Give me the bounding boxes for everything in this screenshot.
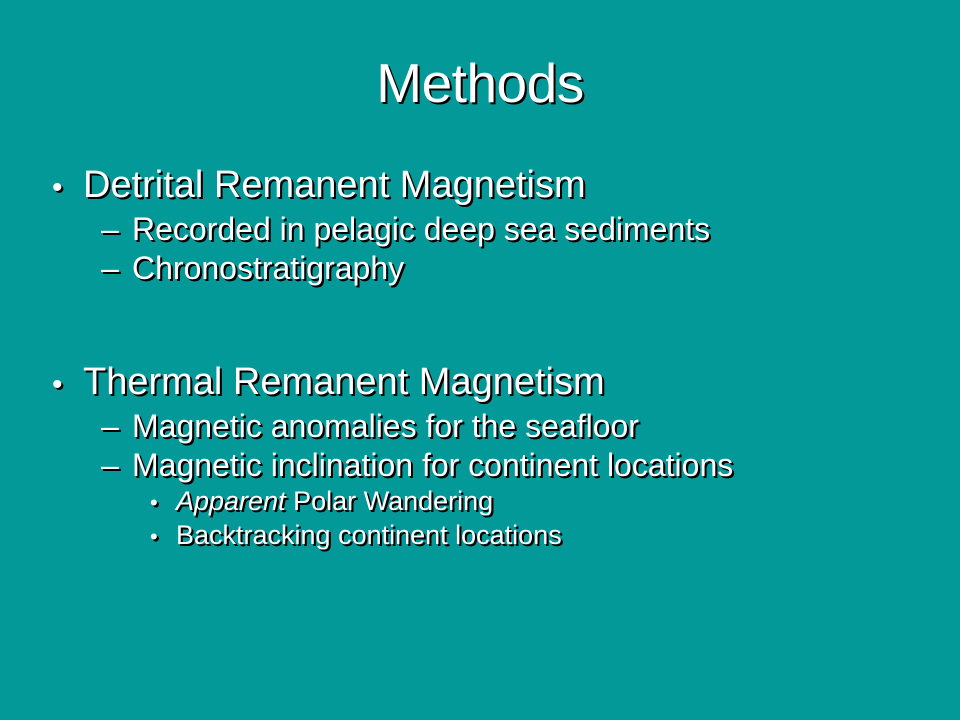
list-group-spacer: [0, 288, 960, 360]
list-bullet-marker: –: [101, 407, 132, 446]
page-title: Methods: [0, 52, 960, 114]
list-item-label-emphasis: Apparent: [176, 486, 286, 516]
list-bullet-marker: •: [52, 165, 83, 210]
list-item: •Backtracking continent locations: [0, 519, 960, 553]
list-bullet-marker: •: [52, 362, 83, 407]
list-bullet-marker: –: [101, 249, 132, 288]
list-bullet-marker: –: [101, 446, 132, 485]
list-bullet-marker: •: [150, 486, 176, 519]
list-item: –Magnetic anomalies for the seafloor: [0, 407, 960, 446]
list-bullet-marker: –: [101, 210, 132, 249]
presentation-slide: Methods •Detrital Remanent Magnetism–Rec…: [0, 0, 960, 720]
list-item-label-rest: Polar Wandering: [286, 486, 494, 516]
list-item: •Detrital Remanent Magnetism: [0, 163, 960, 210]
list-item-label: Detrital Remanent Magnetism: [83, 163, 586, 208]
list-item: •Apparent Polar Wandering: [0, 485, 960, 519]
list-item: •Thermal Remanent Magnetism: [0, 360, 960, 407]
list-item-label: Thermal Remanent Magnetism: [83, 360, 605, 405]
list-item-label: Magnetic anomalies for the seafloor: [132, 407, 639, 446]
list-item-label: Chronostratigraphy: [132, 249, 404, 288]
list-item-label: Apparent Polar Wandering: [176, 485, 493, 518]
list-bullet-marker: •: [150, 520, 176, 553]
slide-body-list: •Detrital Remanent Magnetism–Recorded in…: [0, 163, 960, 553]
list-item-label: Magnetic inclination for continent locat…: [132, 446, 733, 485]
list-item: –Recorded in pelagic deep sea sediments: [0, 210, 960, 249]
list-item-label: Recorded in pelagic deep sea sediments: [132, 210, 710, 249]
list-item: –Magnetic inclination for continent loca…: [0, 446, 960, 485]
list-item: –Chronostratigraphy: [0, 249, 960, 288]
list-item-label: Backtracking continent locations: [176, 519, 562, 552]
